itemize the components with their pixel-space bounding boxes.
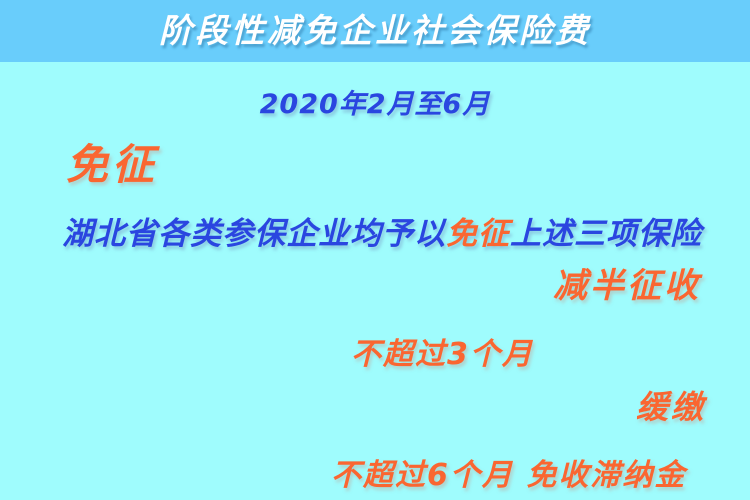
deferral-heading: 缓缴: [636, 382, 706, 428]
exemption-heading: 免征: [66, 131, 158, 192]
hubei-policy-prefix: 湖北省各类参保企业均予以: [62, 216, 446, 252]
hubei-policy-highlight: 免征: [446, 216, 510, 252]
three-month-limit-text: 不超过3个月: [351, 329, 534, 373]
header-band: 阶段性减免企业社会保险费: [0, 0, 750, 62]
poster-canvas: 阶段性减免企业社会保险费 2020年2月至6月 免征 湖北省各类参保企业均予以免…: [0, 0, 750, 500]
six-month-limit-text: 不超过6个月 免收滞纳金: [331, 450, 686, 494]
hubei-policy-suffix: 上述三项保险: [510, 216, 702, 252]
hubei-policy-text: 湖北省各类参保企业均予以免征上述三项保险: [62, 208, 702, 253]
page-title: 阶段性减免企业社会保险费: [0, 9, 750, 53]
half-collection-heading: 减半征收: [553, 258, 701, 307]
date-range-text: 2020年2月至6月: [0, 82, 750, 121]
